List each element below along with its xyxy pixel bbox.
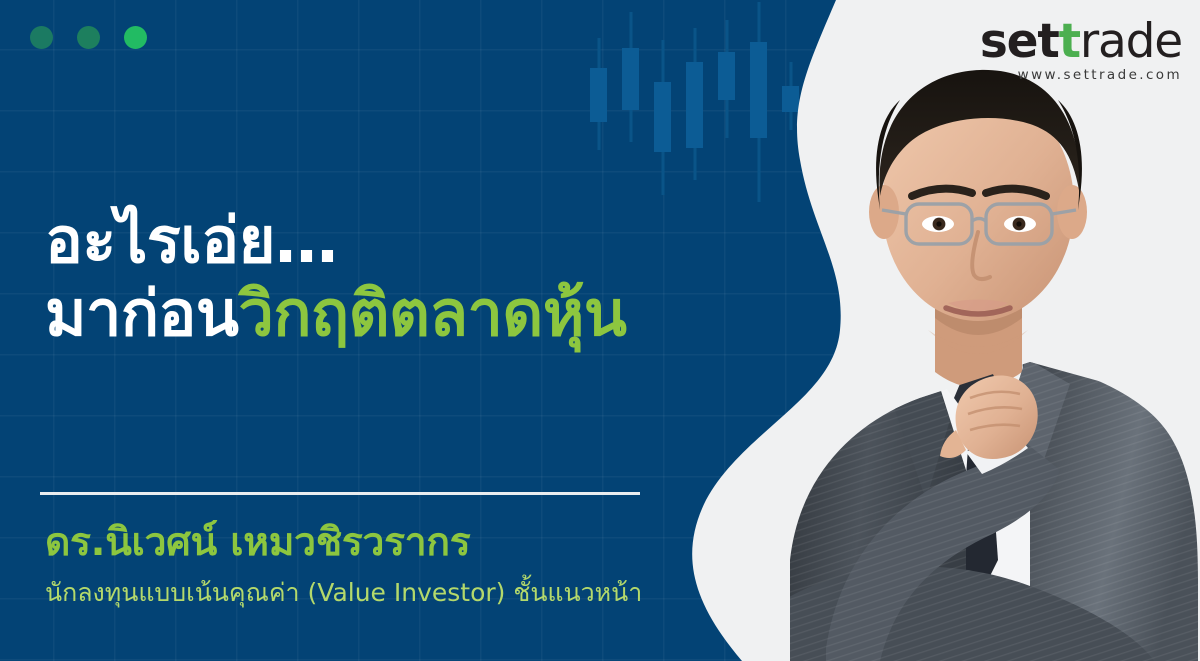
headline-line-2-green: วิกฤติตลาดหุ้น [238, 277, 626, 350]
headline: อะไรเอ่ย… มาก่อนวิกฤติตลาดหุ้น [45, 205, 725, 349]
logo-wordmark: settrade [980, 18, 1182, 66]
logo-url: www.settrade.com [980, 67, 1182, 83]
speaker-role: นักลงทุนแบบเน้นคุณค่า (Value Investor) ช… [45, 578, 642, 608]
logo-part-t: t [1059, 14, 1080, 69]
dot-2-icon [77, 26, 100, 49]
dot-1-icon [30, 26, 53, 49]
logo-part-set: set [980, 14, 1059, 69]
dot-3-icon [124, 26, 147, 49]
headline-line-2: มาก่อนวิกฤติตลาดหุ้น [45, 278, 725, 349]
speaker-photo [730, 0, 1200, 661]
settrade-logo: settrade www.settrade.com [980, 18, 1182, 83]
settrade-promo-banner: settrade www.settrade.com อะไรเอ่ย… มาก่… [0, 0, 1200, 661]
horizontal-divider [40, 492, 640, 495]
decorative-dots [30, 26, 147, 49]
speaker-name: ดร.นิเวศน์ เหมวชิรวรากร [45, 522, 470, 565]
headline-line-2-white: มาก่อน [45, 277, 238, 350]
headline-line-1: อะไรเอ่ย… [45, 205, 725, 276]
logo-part-rade: rade [1080, 14, 1182, 69]
